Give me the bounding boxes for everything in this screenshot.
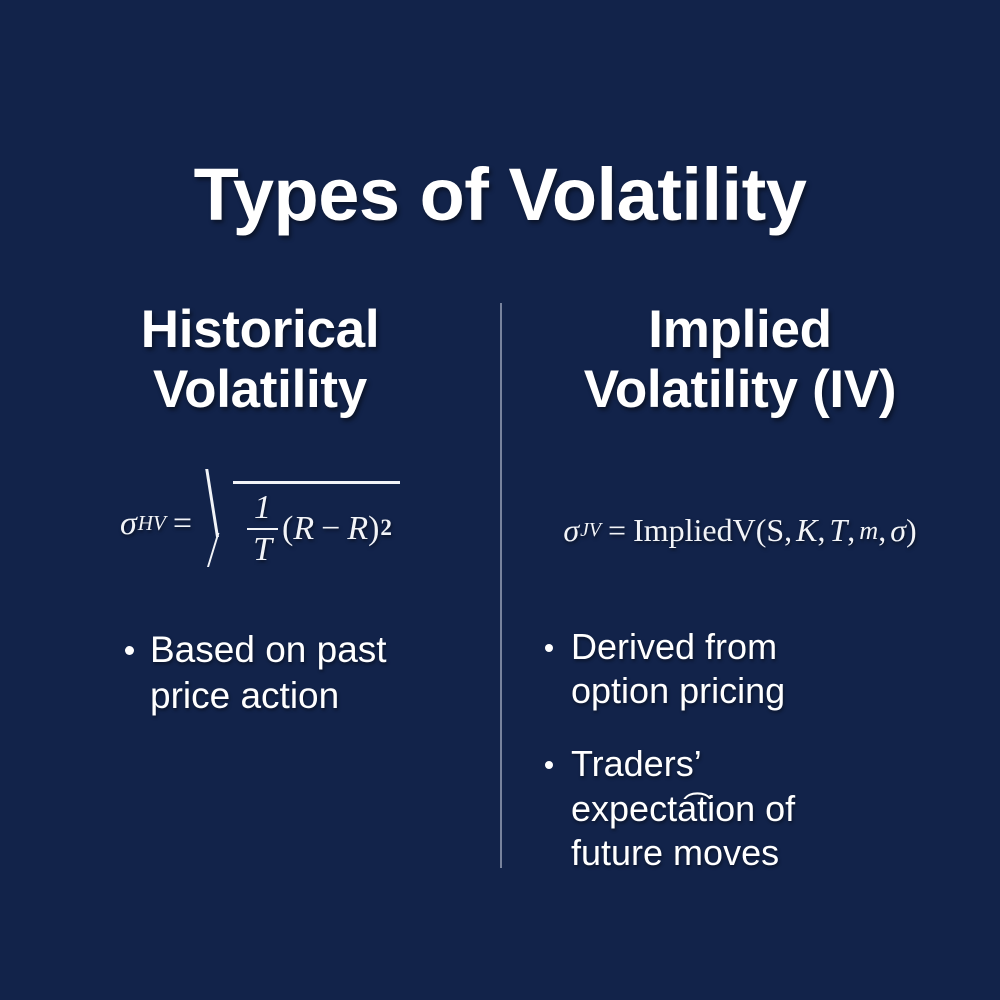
bullet-text: Based on past price action [150, 627, 450, 719]
column-historical-volatility: Historical Volatility σHV = 1 T (R−R)2 [40, 300, 480, 747]
formula-hv-subscript: HV [138, 511, 166, 536]
formula-iv-comma-2: , [847, 512, 855, 549]
formula-iv-arg-2: T [830, 512, 848, 549]
list-item: Traders’ expecta͡tion of future moves [545, 742, 960, 876]
column-divider [500, 303, 502, 868]
column-implied-volatility: Implied Volatility (IV) σJV = ImpliedV(S… [520, 300, 960, 904]
bullet-dot-icon [545, 761, 553, 769]
bullet-dot-icon [125, 646, 134, 655]
formula-iv-paren-open: ( [756, 512, 767, 549]
formula-iv-arg-1: K [796, 512, 817, 549]
formula-hv-var2: R [347, 510, 368, 548]
formula-hv-paren-close: ) [368, 510, 379, 548]
formula-iv-comma-1: , [818, 512, 826, 549]
formula-iv-equals: = [608, 512, 626, 549]
formula-hv-numerator: 1 [248, 491, 277, 528]
bullet-dot-icon [545, 644, 553, 652]
formula-iv-paren-close: ) [906, 512, 917, 549]
column-heading-historical: Historical Volatility [40, 300, 480, 421]
formula-iv-subscript: JV [580, 519, 601, 542]
formula-hv-radicand: 1 T (R−R)2 [233, 481, 400, 567]
formula-iv-comma-0: , [784, 512, 792, 549]
formula-hv-sigma: σ [120, 505, 137, 543]
formula-iv-arg-4: σ [890, 512, 906, 549]
list-item: Based on past price action [125, 627, 480, 719]
bullet-list-historical: Based on past price action [125, 627, 480, 719]
formula-hv-exponent: 2 [380, 515, 392, 542]
radical-icon [203, 481, 233, 567]
column-heading-historical-line2: Volatility [153, 360, 367, 419]
column-heading-implied: Implied Volatility (IV) [520, 300, 960, 421]
column-heading-historical-line1: Historical [141, 300, 380, 359]
formula-hv-equals: = [173, 505, 192, 543]
formula-hv-denominator: T [247, 528, 278, 567]
formula-hv-paren-open: ( [282, 510, 293, 548]
formula-historical-volatility: σHV = 1 T (R−R)2 [40, 469, 480, 579]
formula-iv-sigma: σ [563, 512, 579, 549]
bullet-text: Derived from option pricing [571, 625, 861, 714]
column-heading-implied-line1: Implied [648, 300, 831, 359]
page-title: Types of Volatility [0, 158, 1000, 232]
bullet-text: Traders’ expecta͡tion of future moves [571, 742, 861, 876]
formula-implied-volatility: σJV = ImpliedV(S,K,T,т,σ) [520, 483, 960, 579]
list-item: Derived from option pricing [545, 625, 960, 714]
formula-hv-var1: R [293, 510, 314, 548]
formula-iv-arg-3: т [859, 516, 878, 546]
slide-canvas: Types of Volatility Historical Volatilit… [0, 0, 1000, 1000]
bullet-list-implied: Derived from option pricing Traders’ exp… [545, 625, 960, 876]
formula-iv-arg-0: S [766, 512, 784, 549]
column-heading-implied-line2: Volatility (IV) [584, 360, 897, 419]
formula-iv-comma-3: , [878, 512, 886, 549]
formula-hv-sqrt: 1 T (R−R)2 [203, 481, 400, 567]
formula-iv-function-name: ImpliedV [633, 512, 756, 549]
formula-hv-minus: − [321, 510, 340, 548]
formula-hv-fraction: 1 T [247, 491, 278, 567]
